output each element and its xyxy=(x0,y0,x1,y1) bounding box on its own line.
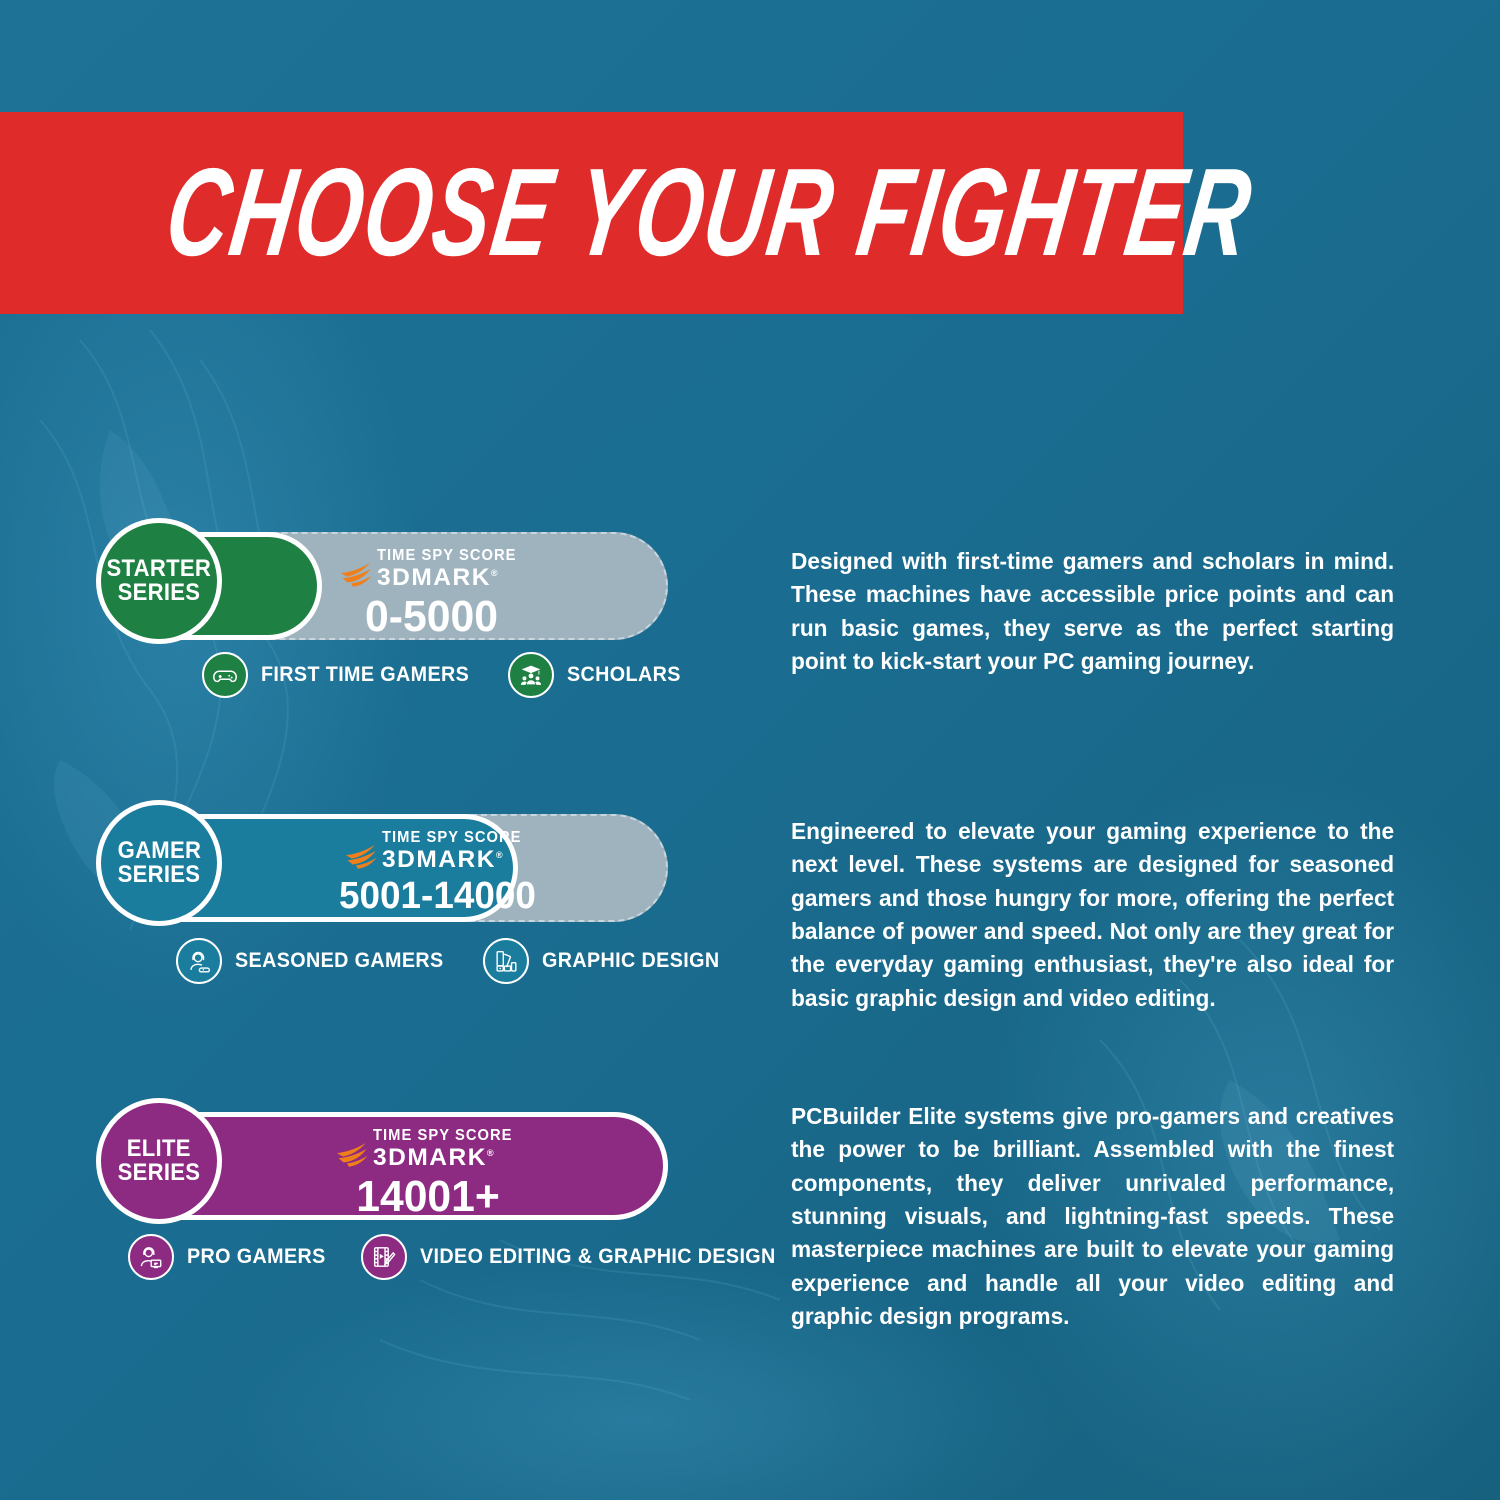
tag-video-editing-graphic-design[interactable]: VIDEO EDITING & GRAPHIC DESIGN xyxy=(361,1234,798,1280)
tag-first-time-gamers[interactable]: FIRST TIME GAMERS xyxy=(202,652,482,698)
series-sub: SERIES xyxy=(118,581,201,605)
score-block-elite: TIME SPY SCORE 3DMARK® 14001+ xyxy=(336,1128,520,1219)
series-row-gamer: GAMER SERIES TIME SPY SCORE 3DMARK® 5001… xyxy=(108,814,768,934)
pro-gamer-monitor-icon xyxy=(128,1234,174,1280)
score-value-elite: 14001+ xyxy=(356,1175,500,1219)
series-sub: SERIES xyxy=(118,1161,201,1185)
color-swatch-icon xyxy=(483,938,529,984)
page-title: CHOOSE YOUR FIGHTER xyxy=(159,151,1259,276)
series-name: ELITE xyxy=(127,1137,191,1161)
series-name: STARTER xyxy=(107,557,212,581)
tag-label: FIRST TIME GAMERS xyxy=(261,663,469,687)
tag-label: SCHOLARS xyxy=(567,663,681,687)
tag-graphic-design[interactable]: GRAPHIC DESIGN xyxy=(483,938,731,984)
tag-label: PRO GAMERS xyxy=(187,1245,326,1269)
series-badge-starter[interactable]: STARTER SERIES xyxy=(96,518,222,644)
tag-label: SEASONED GAMERS xyxy=(235,949,444,973)
series-row-starter: STARTER SERIES TIME SPY SCORE 3DMARK® 0-… xyxy=(108,532,768,652)
tag-scholars[interactable]: SCHOLARS xyxy=(508,652,688,698)
tag-pro-gamers[interactable]: PRO GAMERS xyxy=(128,1234,335,1280)
tag-seasoned-gamers[interactable]: SEASONED GAMERS xyxy=(176,938,457,984)
3dmark-brand: 3DMARK xyxy=(377,564,491,591)
3dmark-swoosh-icon xyxy=(340,559,374,589)
headset-gamer-icon xyxy=(176,938,222,984)
tag-label: VIDEO EDITING & GRAPHIC DESIGN xyxy=(420,1245,776,1269)
description-gamer: Engineered to elevate your gaming experi… xyxy=(791,815,1394,1015)
time-spy-score-label: TIME SPY SCORE xyxy=(373,1128,513,1144)
description-elite: PCBuilder Elite systems give pro-gamers … xyxy=(791,1100,1394,1334)
header-banner: CHOOSE YOUR FIGHTER xyxy=(0,112,1183,314)
series-badge-gamer[interactable]: GAMER SERIES xyxy=(96,800,222,926)
graduation-people-icon xyxy=(508,652,554,698)
series-badge-elite[interactable]: ELITE SERIES xyxy=(96,1098,222,1224)
3dmark-swoosh-icon xyxy=(345,841,379,871)
3dmark-brand: 3DMARK xyxy=(382,846,496,873)
3dmark-brand: 3DMARK xyxy=(373,1144,487,1171)
score-block-starter: TIME SPY SCORE 3DMARK® 0-5000 xyxy=(340,548,524,639)
tags-elite: PRO GAMERS VIDEO EDITING & GRAPHIC DESIG… xyxy=(128,1234,798,1280)
time-spy-score-label: TIME SPY SCORE xyxy=(382,830,522,846)
series-sub: SERIES xyxy=(118,863,201,887)
film-pencil-icon xyxy=(361,1234,407,1280)
score-value-gamer: 5001-14000 xyxy=(339,877,536,915)
tag-label: GRAPHIC DESIGN xyxy=(542,949,719,973)
description-starter: Designed with first-time gamers and scho… xyxy=(791,545,1394,678)
score-value-starter: 0-5000 xyxy=(365,595,498,639)
trademark-symbol: ® xyxy=(496,850,504,860)
time-spy-score-label: TIME SPY SCORE xyxy=(377,548,517,564)
3dmark-swoosh-icon xyxy=(336,1139,370,1169)
series-row-elite: ELITE SERIES TIME SPY SCORE 3DMARK® 1400… xyxy=(108,1112,768,1232)
trademark-symbol: ® xyxy=(491,568,499,578)
tags-gamer: SEASONED GAMERS GRAPHIC DESIGN xyxy=(176,938,731,984)
tags-starter: FIRST TIME GAMERS SCHOLARS xyxy=(202,652,689,698)
trademark-symbol: ® xyxy=(487,1148,495,1158)
gamepad-icon xyxy=(202,652,248,698)
score-block-gamer: TIME SPY SCORE 3DMARK® 5001-14000 xyxy=(336,830,539,915)
series-name: GAMER xyxy=(117,839,201,863)
